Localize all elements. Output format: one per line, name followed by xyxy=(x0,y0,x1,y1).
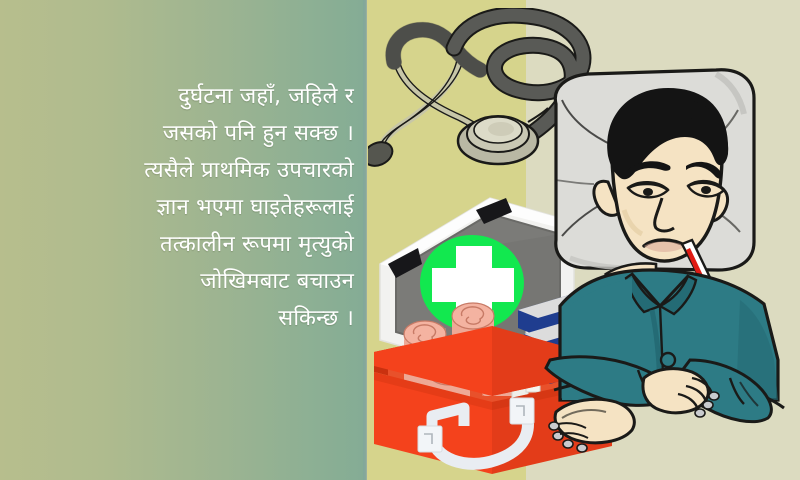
patient-illustration xyxy=(540,60,800,480)
shirt-button xyxy=(661,353,675,367)
hand-lower xyxy=(549,399,634,452)
poster-quote-text: दुर्घटना जहाँ, जहिले र जसको पनि हुन सक्छ… xyxy=(10,78,354,337)
stethoscope-chestpiece xyxy=(458,108,548,164)
stethoscope-earpiece-left xyxy=(368,138,396,171)
arms-and-hands xyxy=(546,357,771,452)
poster-canvas: दुर्घटना जहाँ, जहिले र जसको पनि हुन सक्छ… xyxy=(0,0,800,480)
